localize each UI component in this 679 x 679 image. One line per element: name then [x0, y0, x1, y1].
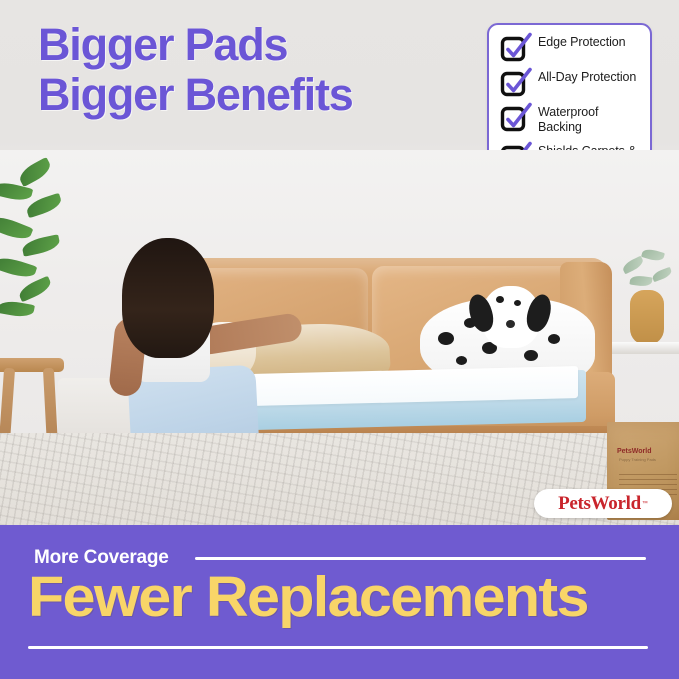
- feature-label: All-Day Protection: [538, 70, 636, 85]
- divider-top: [195, 557, 646, 560]
- page-title: Bigger Pads Bigger Benefits: [38, 22, 353, 118]
- feature-label: Edge Protection: [538, 35, 625, 50]
- lifestyle-photo: PetsWorld Puppy Training Pads: [0, 150, 679, 525]
- box-sublabel: Puppy Training Pads: [619, 457, 656, 462]
- woman-hair: [122, 238, 214, 358]
- divider-bottom: [28, 646, 648, 649]
- product-infographic: Bigger Pads Bigger Benefits Edge Protect…: [0, 0, 679, 679]
- brand-logo: PetsWorld ™: [534, 489, 672, 518]
- vase: [630, 290, 664, 345]
- checkbox-checked-icon: [501, 37, 526, 61]
- list-item: Edge Protection: [489, 35, 650, 61]
- feature-label: Waterproof Backing: [538, 105, 638, 135]
- list-item: All-Day Protection: [489, 70, 650, 96]
- banner-headline: Fewer Replacements: [28, 569, 679, 626]
- trademark-icon: ™: [642, 501, 648, 507]
- checkbox-checked-icon: [501, 107, 526, 131]
- plant: [0, 164, 108, 344]
- brand-name: PetsWorld: [558, 493, 641, 515]
- headline-line-2: Bigger Benefits: [38, 72, 353, 118]
- headline-line-1: Bigger Pads: [38, 22, 353, 68]
- checkbox-checked-icon: [501, 72, 526, 96]
- list-item: Waterproof Backing: [489, 105, 650, 135]
- bottom-banner: More Coverage Fewer Replacements: [0, 525, 679, 679]
- box-brand-label: PetsWorld: [617, 448, 652, 455]
